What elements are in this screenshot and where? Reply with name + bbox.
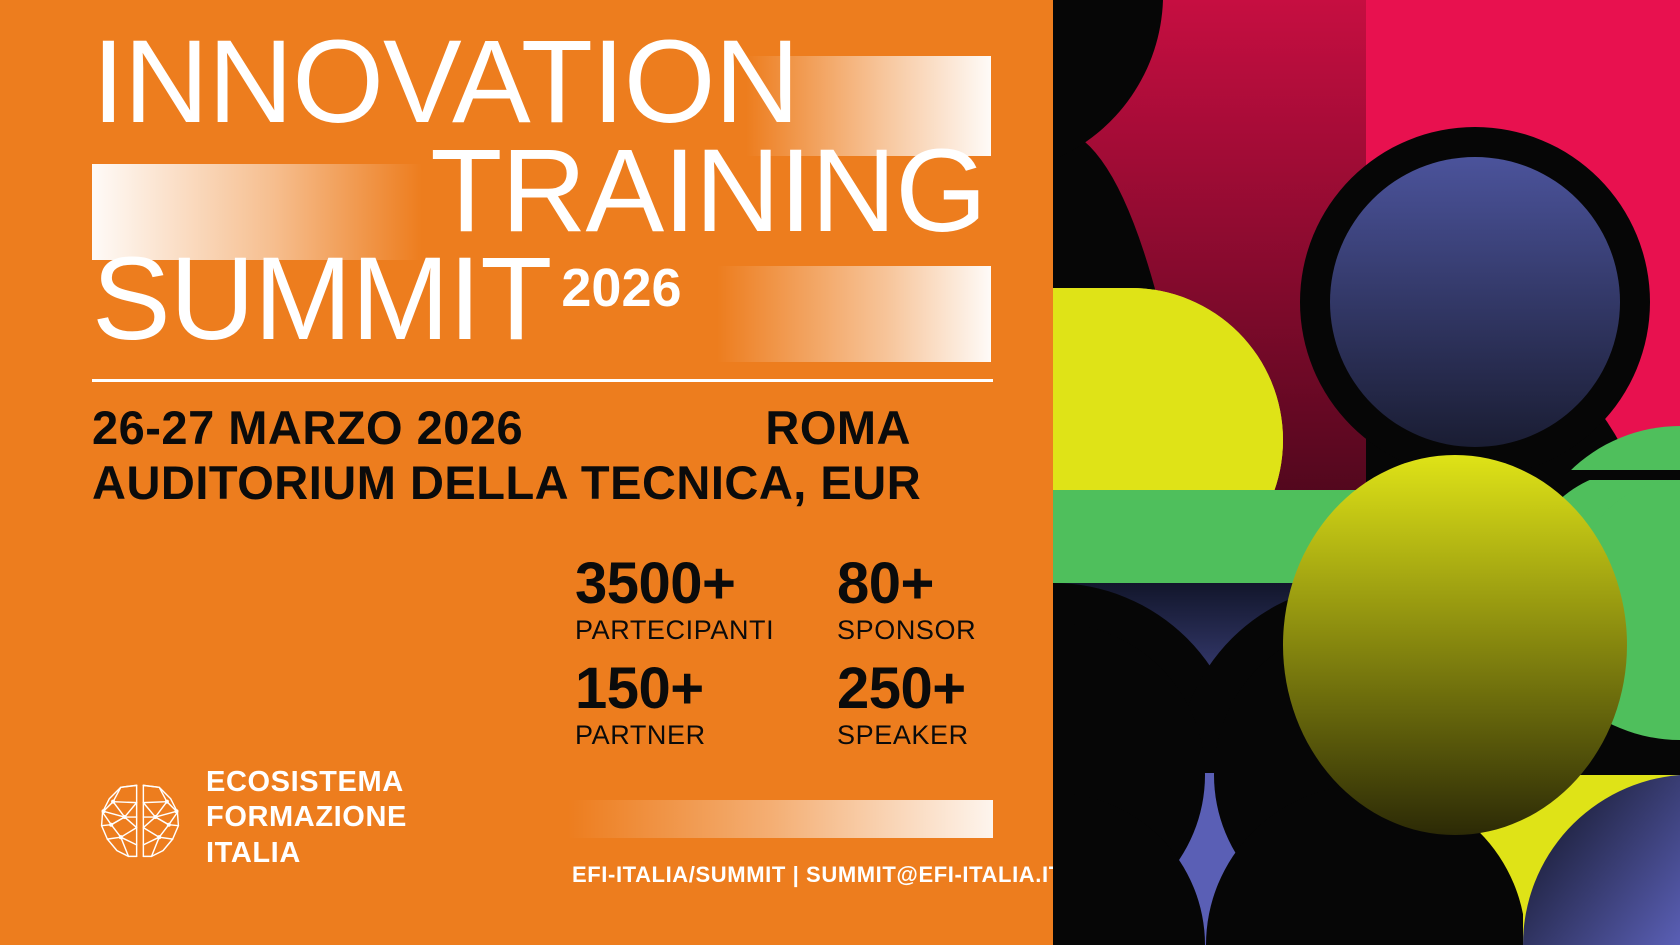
stat-item-partner: 150+ PARTNER	[575, 660, 837, 751]
logo-line-3: ITALIA	[206, 836, 407, 871]
event-venue: AUDITORIUM DELLA TECNICA, EUR	[92, 455, 993, 510]
event-dates: 26-27 MARZO 2026	[92, 400, 523, 455]
headline-year: 2026	[561, 258, 681, 318]
brain-network-icon	[92, 770, 188, 866]
stat-value: 3500+	[575, 555, 837, 613]
headline-line-3: SUMMIT2026	[92, 245, 992, 354]
event-meta: 26-27 MARZO 2026 ROMA AUDITORIUM DELLA T…	[92, 400, 993, 511]
stat-label: PARTECIPANTI	[575, 615, 837, 646]
headline-line-2: TRAINING	[92, 137, 992, 246]
stat-item-sponsor: 80+ SPONSOR	[837, 555, 1005, 646]
gradient-bar-footer	[568, 800, 993, 838]
stat-value: 250+	[837, 660, 1005, 718]
stat-value: 150+	[575, 660, 837, 718]
divider-rule	[92, 379, 993, 382]
stat-item-participants: 3500+ PARTECIPANTI	[575, 555, 837, 646]
poster-canvas: INNOVATION TRAINING SUMMIT2026 26-27 MAR…	[0, 0, 1680, 945]
stat-label: PARTNER	[575, 720, 837, 751]
stat-item-speaker: 250+ SPEAKER	[837, 660, 1005, 751]
stat-label: SPONSOR	[837, 615, 1005, 646]
pattern-graphic	[1053, 0, 1680, 945]
logo-line-2: FORMAZIONE	[206, 800, 407, 835]
logo-line-1: ECOSISTEMA	[206, 765, 407, 800]
organizer-logo: ECOSISTEMA FORMAZIONE ITALIA	[92, 765, 407, 871]
left-content-panel: INNOVATION TRAINING SUMMIT2026 26-27 MAR…	[0, 0, 1053, 945]
page-title: INNOVATION TRAINING SUMMIT2026	[92, 28, 992, 354]
stat-label: SPEAKER	[837, 720, 1005, 751]
decorative-pattern-panel	[1053, 0, 1680, 945]
headline-summit-word: SUMMIT	[92, 233, 551, 365]
contact-info[interactable]: EFI-ITALIA/SUMMIT | SUMMIT@EFI-ITALIA.IT	[572, 862, 1053, 888]
headline-line-1: INNOVATION	[92, 28, 992, 137]
logo-wordmark: ECOSISTEMA FORMAZIONE ITALIA	[206, 765, 407, 871]
stat-value: 80+	[837, 555, 1005, 613]
stats-grid: 3500+ PARTECIPANTI 80+ SPONSOR 150+ PART…	[575, 555, 1005, 751]
event-city: ROMA	[765, 400, 993, 455]
